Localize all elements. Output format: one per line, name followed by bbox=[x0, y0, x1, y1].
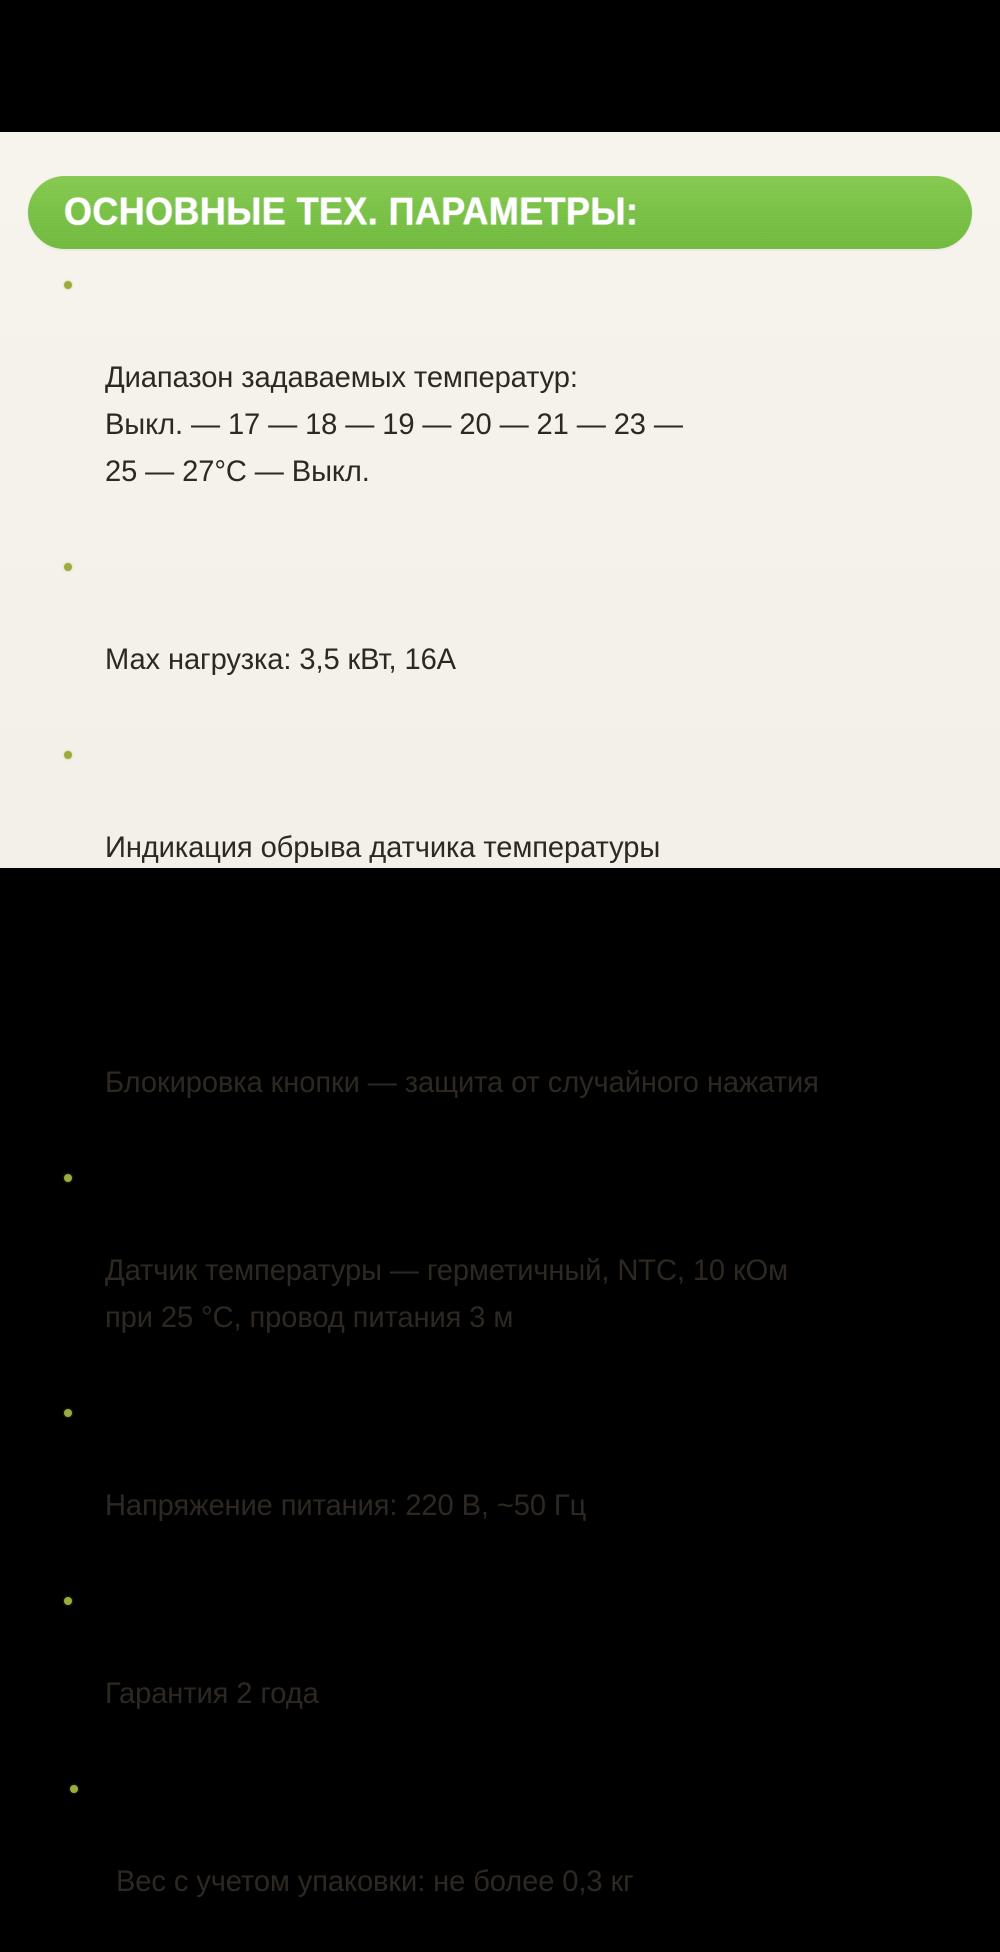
spec-item-label: Мах нагрузка: 3,5 кВт, 16А bbox=[105, 636, 973, 683]
spec-item-max-load: Мах нагрузка: 3,5 кВт, 16А bbox=[0, 542, 1000, 730]
spec-item-label: Датчик температуры — герметичный, NTC, 1… bbox=[105, 1247, 973, 1341]
page-title-text: ОСНОВНЫЕ ТЕХ. ПАРАМЕТРЫ: bbox=[64, 192, 638, 231]
bullet-dot-icon bbox=[64, 1174, 72, 1182]
spec-item-temperature-range: Диапазон задаваемых температур: Выкл. — … bbox=[0, 260, 1000, 542]
content-panel: ОСНОВНЫЕ ТЕХ. ПАРАМЕТРЫ: Диапазон задава… bbox=[0, 132, 1000, 868]
bullet-dot-icon bbox=[64, 563, 72, 571]
letterbox-bar-bottom bbox=[0, 868, 1000, 1000]
section-header-banner: ОСНОВНЫЕ ТЕХ. ПАРАМЕТРЫ: bbox=[28, 176, 972, 249]
bullet-dot-icon bbox=[64, 1409, 72, 1417]
spec-item-label: Напряжение питания: 220 В, ~50 Гц bbox=[105, 1482, 973, 1529]
spec-item-warranty: Гарантия 2 года bbox=[0, 1576, 1000, 1764]
spec-item-package-weight: Вес с учетом упаковки: не более 0,3 кг bbox=[0, 1764, 1000, 1952]
spec-list: Диапазон задаваемых температур: Выкл. — … bbox=[0, 260, 1000, 1952]
spec-item-temperature-sensor: Датчик температуры — герметичный, NTC, 1… bbox=[0, 1153, 1000, 1388]
bullet-dot-icon bbox=[64, 281, 72, 289]
product-spec-page: ОСНОВНЫЕ ТЕХ. ПАРАМЕТРЫ: Диапазон задава… bbox=[0, 0, 1000, 1000]
bullet-dot-icon bbox=[70, 1785, 78, 1793]
spec-item-label: Блокировка кнопки — защита от случайного… bbox=[105, 1059, 973, 1106]
spec-item-label: Гарантия 2 года bbox=[105, 1670, 973, 1717]
spec-item-label: Вес с учетом упаковки: не более 0,3 кг bbox=[116, 1858, 973, 1905]
letterbox-bar-top bbox=[0, 0, 1000, 132]
spec-item-supply-voltage: Напряжение питания: 220 В, ~50 Гц bbox=[0, 1388, 1000, 1576]
bullet-dot-icon bbox=[64, 1597, 72, 1605]
page-title: ОСНОВНЫЕ ТЕХ. ПАРАМЕТРЫ: bbox=[64, 192, 688, 231]
bullet-dot-icon bbox=[64, 751, 72, 759]
spec-item-label: Диапазон задаваемых температур: Выкл. — … bbox=[105, 354, 973, 495]
